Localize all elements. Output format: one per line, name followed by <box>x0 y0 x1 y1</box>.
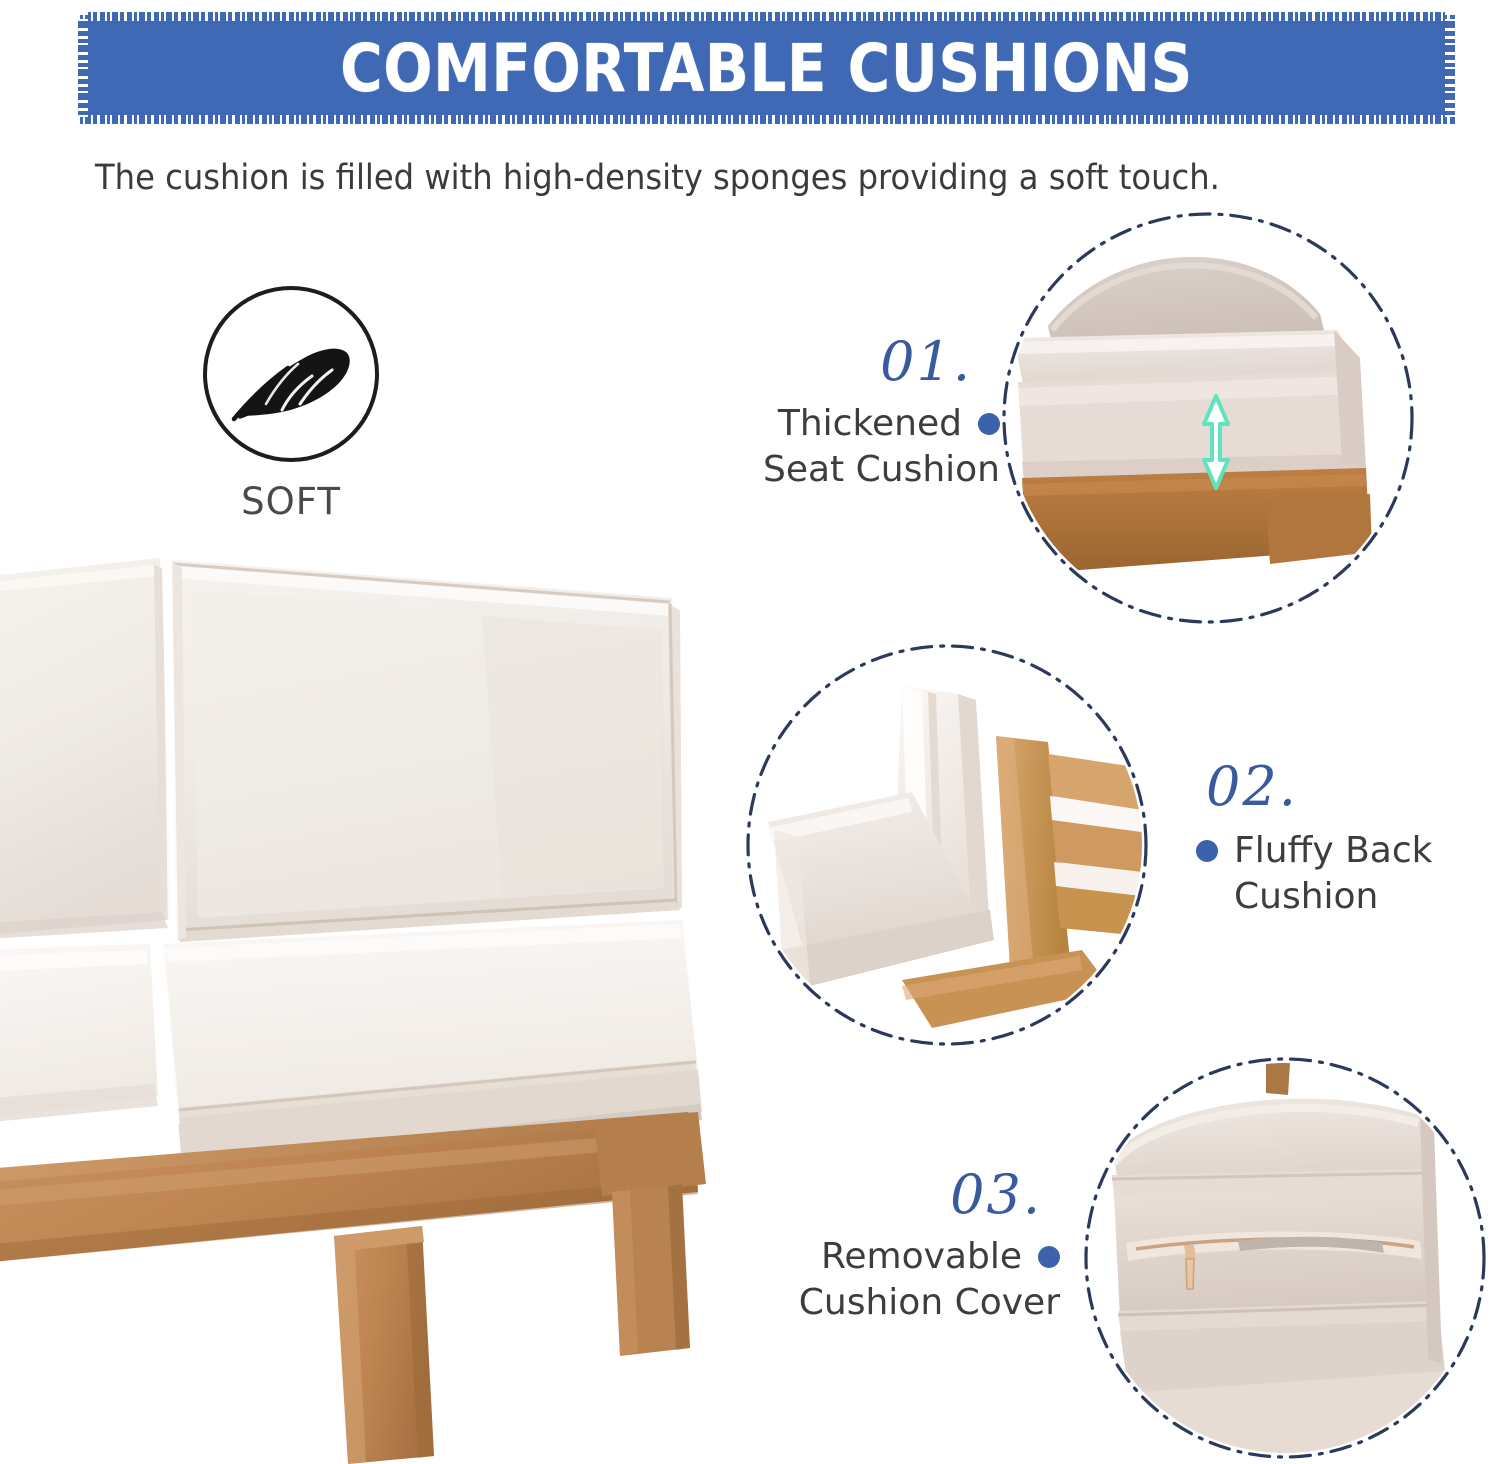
callout-1-line1: Thickened <box>778 401 962 447</box>
main-product-photo <box>0 520 742 1464</box>
callout-2-number: 02. <box>1206 760 1486 814</box>
callout-3-line2: Cushion Cover <box>760 1280 1060 1326</box>
soft-badge-label: SOFT <box>196 480 386 523</box>
callout-2-line1: Fluffy Back <box>1234 828 1432 874</box>
feather-icon <box>226 320 356 428</box>
banner-right-edge <box>1445 12 1455 124</box>
callout-1-line1-row: Thickened <box>740 401 1000 447</box>
subtitle: The cushion is filled with high-density … <box>95 158 1220 198</box>
soft-badge-circle <box>203 286 379 462</box>
callout-photo-2 <box>752 650 1142 1040</box>
callout-2-line1-row: Fluffy Back <box>1196 828 1486 874</box>
soft-badge: SOFT <box>196 286 386 523</box>
callout-3-number: 03. <box>760 1168 1042 1222</box>
header-banner: COMFORTABLE CUSHIONS <box>78 12 1455 124</box>
callout-3: 03. Removable Cushion Cover <box>760 1168 1060 1326</box>
callout-1: 01. Thickened Seat Cushion <box>740 335 1000 493</box>
callout-2: 02. Fluffy Back Cushion <box>1196 760 1486 920</box>
page-title: COMFORTABLE CUSHIONS <box>161 12 1373 124</box>
callout-1-bullet-dot <box>978 413 1000 435</box>
callout-3-bullet-dot <box>1038 1246 1060 1268</box>
callout-2-line2: Cushion <box>1234 874 1486 920</box>
callout-3-line1: Removable <box>821 1234 1022 1280</box>
banner-left-edge <box>78 12 88 124</box>
callout-2-bullet-dot <box>1196 840 1218 862</box>
callout-1-line2: Seat Cushion <box>740 447 1000 493</box>
callout-1-number: 01. <box>740 335 972 389</box>
callout-3-line1-row: Removable <box>760 1234 1060 1280</box>
callout-photo-1 <box>1008 218 1408 618</box>
callout-photo-3 <box>1090 1063 1480 1453</box>
